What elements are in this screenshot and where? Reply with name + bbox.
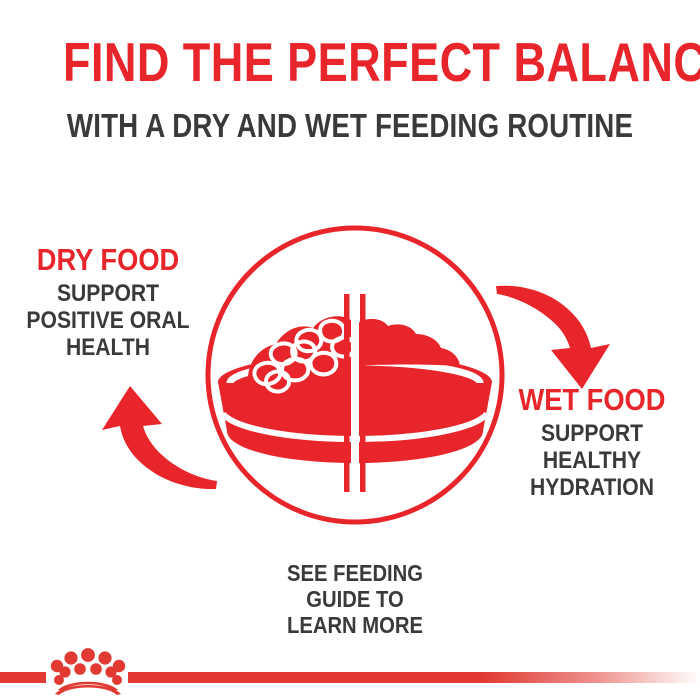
curved-arrow-down-right-icon	[496, 282, 626, 392]
dry-food-description-line: SUPPORT	[20, 280, 196, 307]
wet-food-description-line: HYDRATION	[504, 474, 680, 501]
wet-food-panel: WET FOOD SUPPORT HEALTHY HYDRATION	[492, 383, 692, 501]
footer	[0, 664, 700, 700]
split-pet-food-bowl-icon	[196, 216, 514, 534]
subheadline-container: WITH A DRY AND WET FEEDING ROUTINE	[0, 108, 700, 144]
poster-canvas: FIND THE PERFECT BALANCE WITH A DRY AND …	[0, 0, 700, 700]
footer-bar-left	[0, 672, 46, 683]
dry-food-description: SUPPORT POSITIVE ORAL HEALTH	[20, 280, 196, 361]
page-title: FIND THE PERFECT BALANCE	[63, 34, 637, 90]
feeding-guide-caption: SEE FEEDING GUIDE TO LEARN MORE	[263, 560, 448, 638]
headline-container: FIND THE PERFECT BALANCE	[0, 34, 700, 90]
feeding-guide-caption-line: GUIDE TO	[263, 586, 448, 612]
page-subtitle: WITH A DRY AND WET FEEDING ROUTINE	[56, 108, 644, 144]
dry-food-description-line: HEALTH	[20, 334, 196, 361]
feeding-guide-caption-line: SEE FEEDING	[263, 560, 448, 586]
wet-food-description: SUPPORT HEALTHY HYDRATION	[504, 420, 680, 501]
dry-food-title: DRY FOOD	[20, 243, 196, 276]
wet-food-description-line: SUPPORT HEALTHY	[504, 420, 680, 474]
feeding-guide-caption-line: LEARN MORE	[263, 612, 448, 638]
bowl-divider	[344, 294, 366, 492]
dry-food-panel: DRY FOOD SUPPORT POSITIVE ORAL HEALTH	[8, 243, 208, 361]
royal-canin-crown-icon	[46, 644, 130, 696]
footer-bar-right	[128, 672, 700, 683]
dry-food-description-line: POSITIVE ORAL	[20, 307, 196, 334]
